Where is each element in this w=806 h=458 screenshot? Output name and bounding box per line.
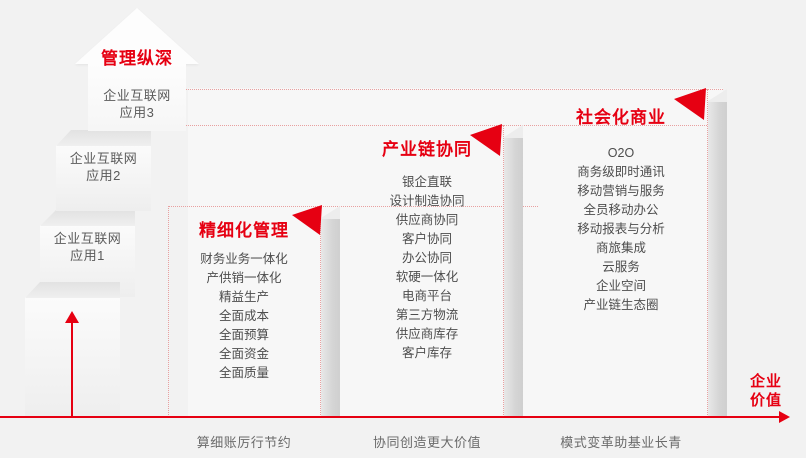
list-item: 产业链生态圈 (535, 296, 707, 315)
x-axis-arrow (0, 416, 780, 418)
step-block-2-label: 企业互联网 应用2 (56, 150, 151, 184)
list-item: 办公协同 (351, 249, 503, 268)
list-item: 企业空间 (535, 277, 707, 296)
step-block-2-label-line1: 企业互联网 (56, 150, 151, 167)
list-item: 供应商库存 (351, 325, 503, 344)
house-label: 企业互联网 应用3 (88, 87, 186, 121)
step-block-2-topface (56, 130, 151, 146)
house-title: 管理纵深 (75, 44, 199, 69)
column-1-wall (321, 218, 340, 417)
step-block-1-label: 企业互联网 应用1 (40, 230, 135, 264)
list-item: 精益生产 (168, 288, 320, 307)
step-block-1-top (40, 210, 135, 226)
caption-column-2: 协同创造更大价值 (351, 432, 503, 451)
list-item: 全面质量 (168, 364, 320, 383)
list-item: 第三方物流 (351, 306, 503, 325)
house-label-line2: 应用3 (88, 104, 186, 121)
x-axis-label-line2: 价值 (738, 391, 794, 410)
column-2: 产业链协同 银企直联 设计制造协同 供应商协同 客户协同 办公协同 软硬一体化 … (351, 125, 503, 417)
step-block-2-top (56, 130, 151, 146)
caption-column-1: 算细账厉行节约 (168, 432, 320, 451)
list-item: 客户协同 (351, 230, 503, 249)
step-block-2-label-line2: 应用2 (56, 167, 151, 184)
list-item: 电商平台 (351, 287, 503, 306)
list-item: 全面资金 (168, 345, 320, 364)
x-axis-label-line1: 企业 (738, 372, 794, 391)
step-block-1-topface (40, 210, 135, 226)
list-item: 云服务 (535, 258, 707, 277)
column-1-list: 财务业务一体化 产供销一体化 精益生产 全面成本 全面预算 全面资金 全面质量 (168, 250, 320, 383)
column-2-wall (504, 137, 523, 417)
list-item: 商旅集成 (535, 239, 707, 258)
list-item: 财务业务一体化 (168, 250, 320, 269)
list-item: 供应商协同 (351, 211, 503, 230)
step-block-1-label-line2: 应用1 (40, 247, 135, 264)
list-item: 软硬一体化 (351, 268, 503, 287)
list-item: 移动报表与分析 (535, 220, 707, 239)
list-item: 银企直联 (351, 173, 503, 192)
column-2-title: 产业链协同 (351, 135, 503, 160)
list-item: 客户库存 (351, 344, 503, 363)
x-axis-arrow-head-icon (779, 411, 790, 423)
list-item: 移动营销与服务 (535, 182, 707, 201)
column-2-list: 银企直联 设计制造协同 供应商协同 客户协同 办公协同 软硬一体化 电商平台 第… (351, 173, 503, 363)
list-item: O2O (535, 144, 707, 163)
column-1-title: 精细化管理 (168, 216, 320, 241)
column-3-list: O2O 商务级即时通讯 移动营销与服务 全员移动办公 移动报表与分析 商旅集成 … (535, 144, 707, 315)
list-item: 全员移动办公 (535, 201, 707, 220)
list-item: 全面成本 (168, 307, 320, 326)
x-axis-label: 企业 价值 (738, 372, 794, 410)
caption-column-3: 模式变革助基业长青 (535, 432, 707, 451)
y-axis-arrow-head-icon (65, 311, 79, 323)
step-pedestal-top (25, 282, 120, 298)
house-label-line1: 企业互联网 (88, 87, 186, 104)
list-item: 商务级即时通讯 (535, 163, 707, 182)
diagram-canvas: 企业互联网 应用1 企业互联网 应用2 管理纵深 企业互联网 应用3 (0, 0, 806, 458)
step-pedestal-topface (25, 282, 120, 298)
column-3-title: 社会化商业 (535, 103, 707, 128)
step-block-1-label-line1: 企业互联网 (40, 230, 135, 247)
column-3-wall (708, 101, 727, 417)
list-item: 全面预算 (168, 326, 320, 345)
list-item: 产供销一体化 (168, 269, 320, 288)
list-item: 设计制造协同 (351, 192, 503, 211)
y-axis-arrow (71, 322, 73, 417)
column-3: 社会化商业 O2O 商务级即时通讯 移动营销与服务 全员移动办公 移动报表与分析… (535, 89, 707, 417)
column-1: 精细化管理 财务业务一体化 产供销一体化 精益生产 全面成本 全面预算 全面资金… (168, 206, 320, 417)
